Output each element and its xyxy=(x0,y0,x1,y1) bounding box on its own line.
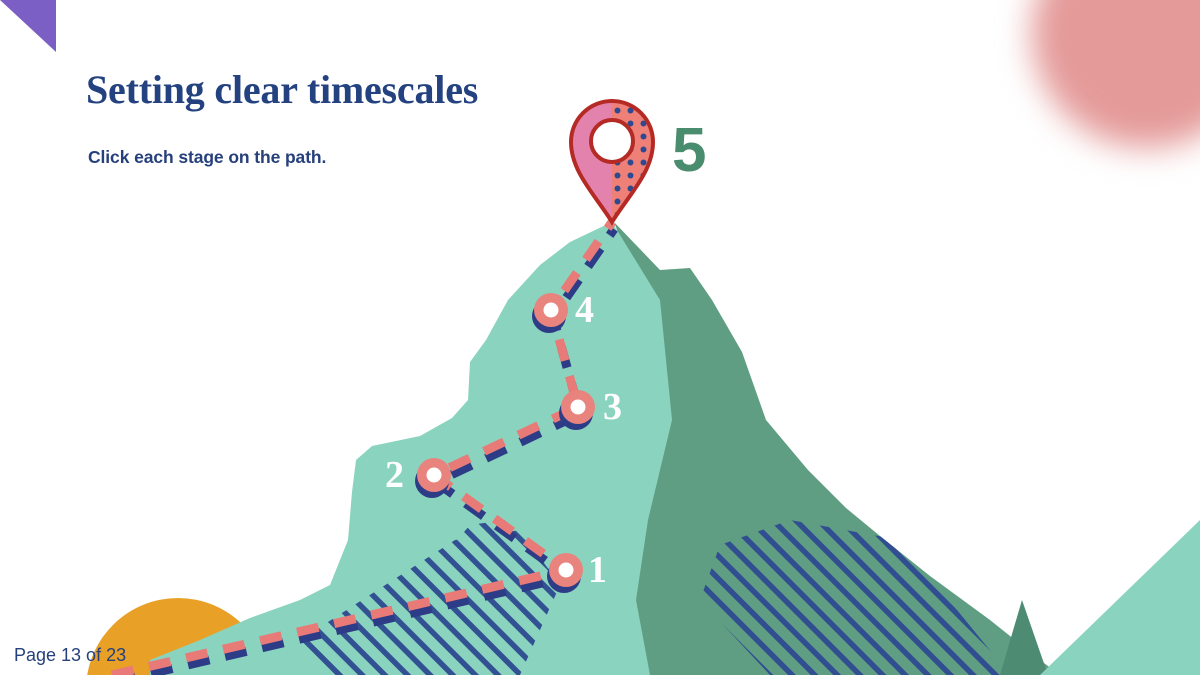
stage-hotspot-4[interactable] xyxy=(529,288,573,332)
stage-hotspot-3[interactable] xyxy=(556,385,600,429)
corner-purple-triangle xyxy=(0,0,56,52)
stage-hotspot-2[interactable] xyxy=(412,453,456,497)
stage-hotspot-1[interactable] xyxy=(544,548,588,592)
slide-canvas: Setting clear timescales Click each stag… xyxy=(0,0,1200,675)
stage-hotspot-5[interactable] xyxy=(571,96,653,226)
